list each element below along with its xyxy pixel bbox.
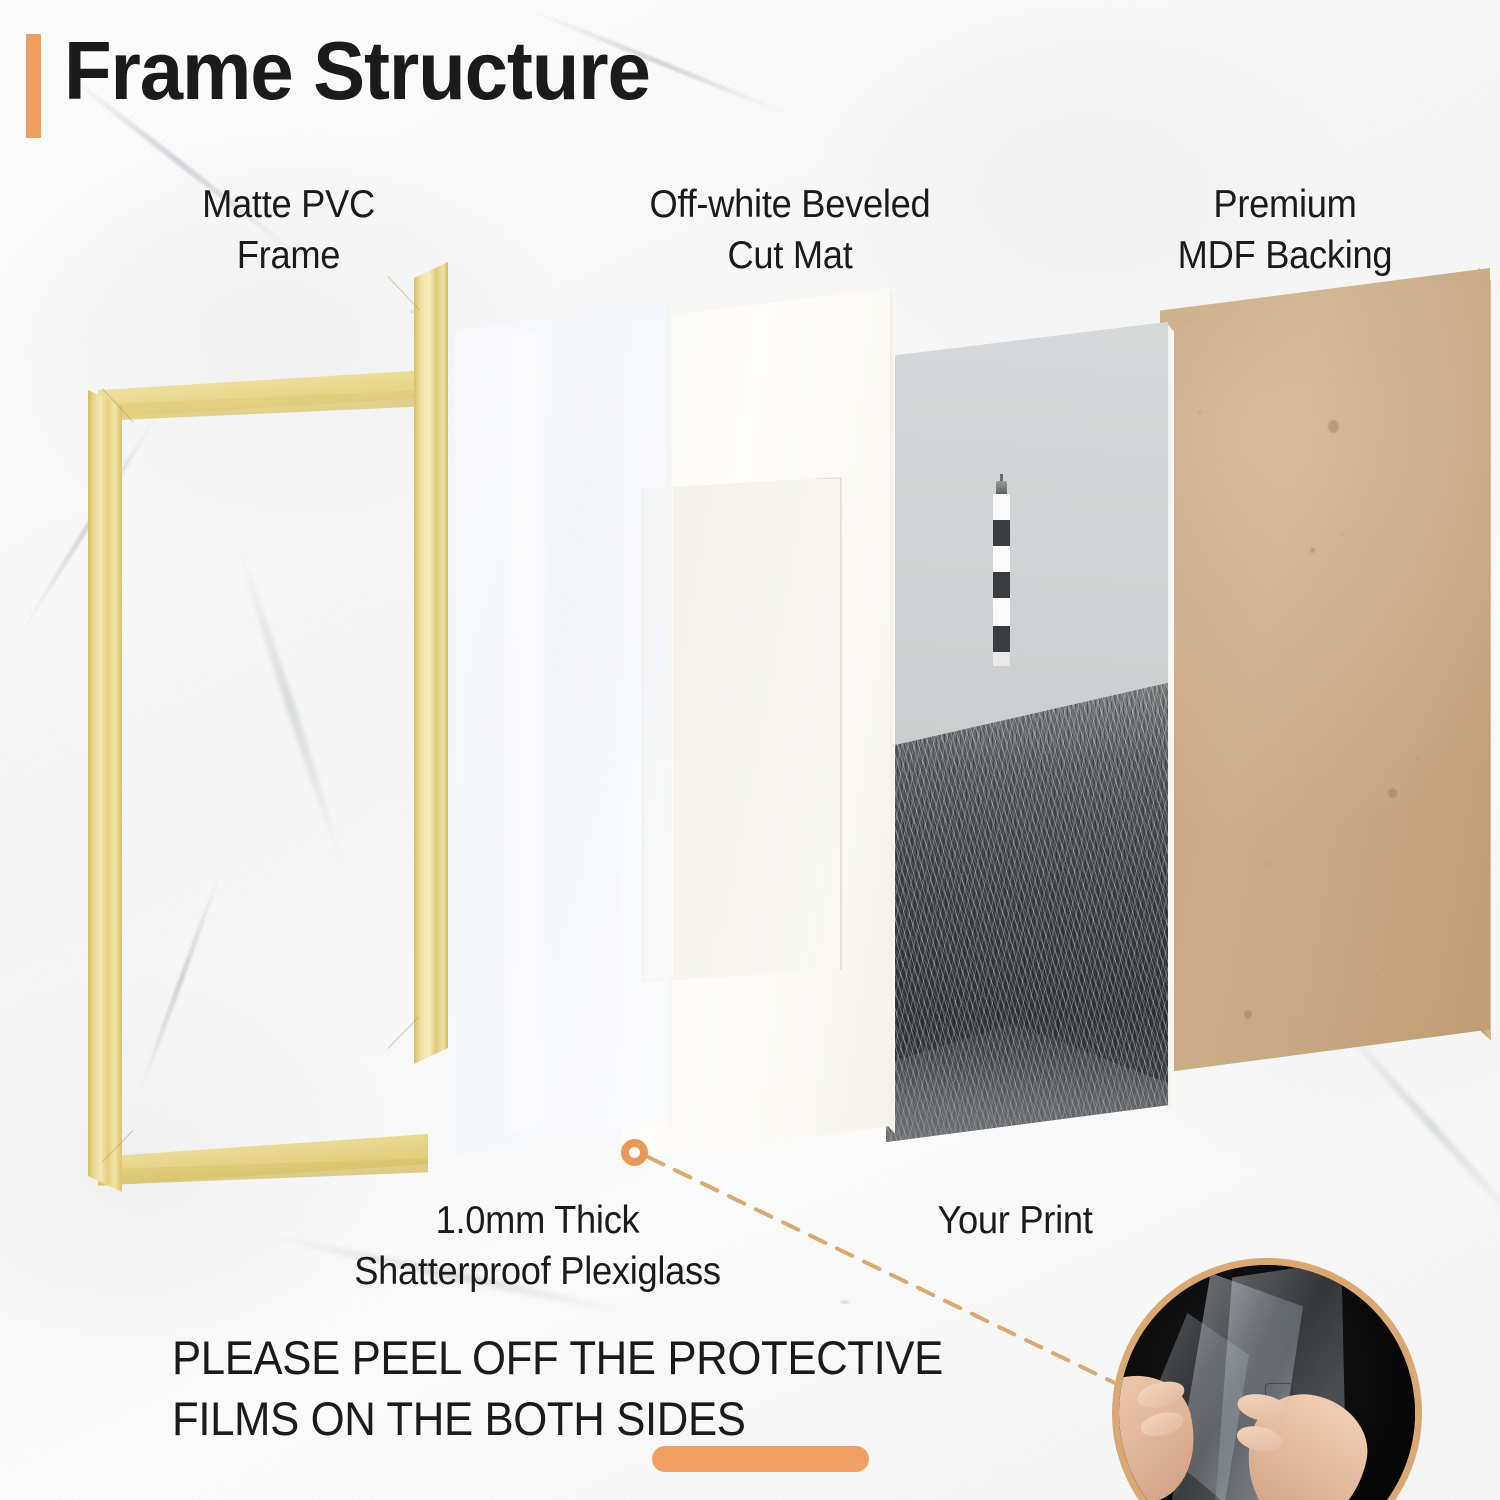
warning-line-2: FILMS ON THE BOTH SIDES	[172, 1389, 1009, 1450]
plexiglass-sheet	[455, 300, 670, 1155]
label-line: MDF Backing	[1090, 231, 1481, 282]
label-line: Premium	[1090, 180, 1481, 231]
mdf-backing-panel	[1160, 268, 1490, 1073]
plexiglass-sheen	[500, 310, 552, 1150]
protective-film-inset-photo	[1112, 1258, 1422, 1500]
warning-line-2-highlight: BOTH SIDES	[485, 1392, 746, 1445]
mdf-knot	[1328, 420, 1339, 433]
warning-line-1: PLEASE PEEL OFF THE PROTECTIVE	[172, 1328, 1009, 1389]
mdf-knot	[1388, 788, 1397, 798]
leader-origin-marker	[621, 1139, 648, 1166]
label-line: Cut Mat	[530, 231, 1051, 282]
finger	[1138, 1408, 1186, 1440]
pvc-frame	[88, 262, 448, 1192]
label-plexiglass: 1.0mm Thick Shatterproof Plexiglass	[265, 1196, 809, 1297]
warning-highlight-bar	[652, 1446, 869, 1472]
label-pvc-frame: Matte PVC Frame	[109, 180, 467, 281]
label-your-print: Your Print	[889, 1196, 1140, 1247]
label-line: Shatterproof Plexiglass	[265, 1247, 809, 1298]
peel-warning: PLEASE PEEL OFF THE PROTECTIVE FILMS ON …	[172, 1328, 1009, 1449]
label-line: 1.0mm Thick	[265, 1196, 809, 1247]
photo-sky	[886, 322, 1168, 748]
lighthouse-icon	[993, 494, 1010, 664]
label-line: Off-white Beveled	[530, 180, 1051, 231]
frame-rail-left	[88, 390, 122, 1192]
infographic-canvas: Frame Structure	[0, 0, 1500, 1500]
label-line: Matte PVC	[109, 180, 467, 231]
label-line: Frame	[109, 231, 467, 282]
print-photo	[886, 322, 1168, 1142]
mdf-knot	[1244, 1010, 1252, 1019]
label-cut-mat: Off-white Beveled Cut Mat	[530, 180, 1051, 281]
mdf-knot	[1310, 548, 1315, 553]
frame-rail-right	[414, 262, 448, 1064]
finger	[1135, 1377, 1187, 1412]
warning-line-2-prefix: FILMS ON THE	[172, 1392, 485, 1445]
mdf-texture	[1160, 268, 1490, 1073]
label-mdf-backing: Premium MDF Backing	[1090, 180, 1481, 281]
